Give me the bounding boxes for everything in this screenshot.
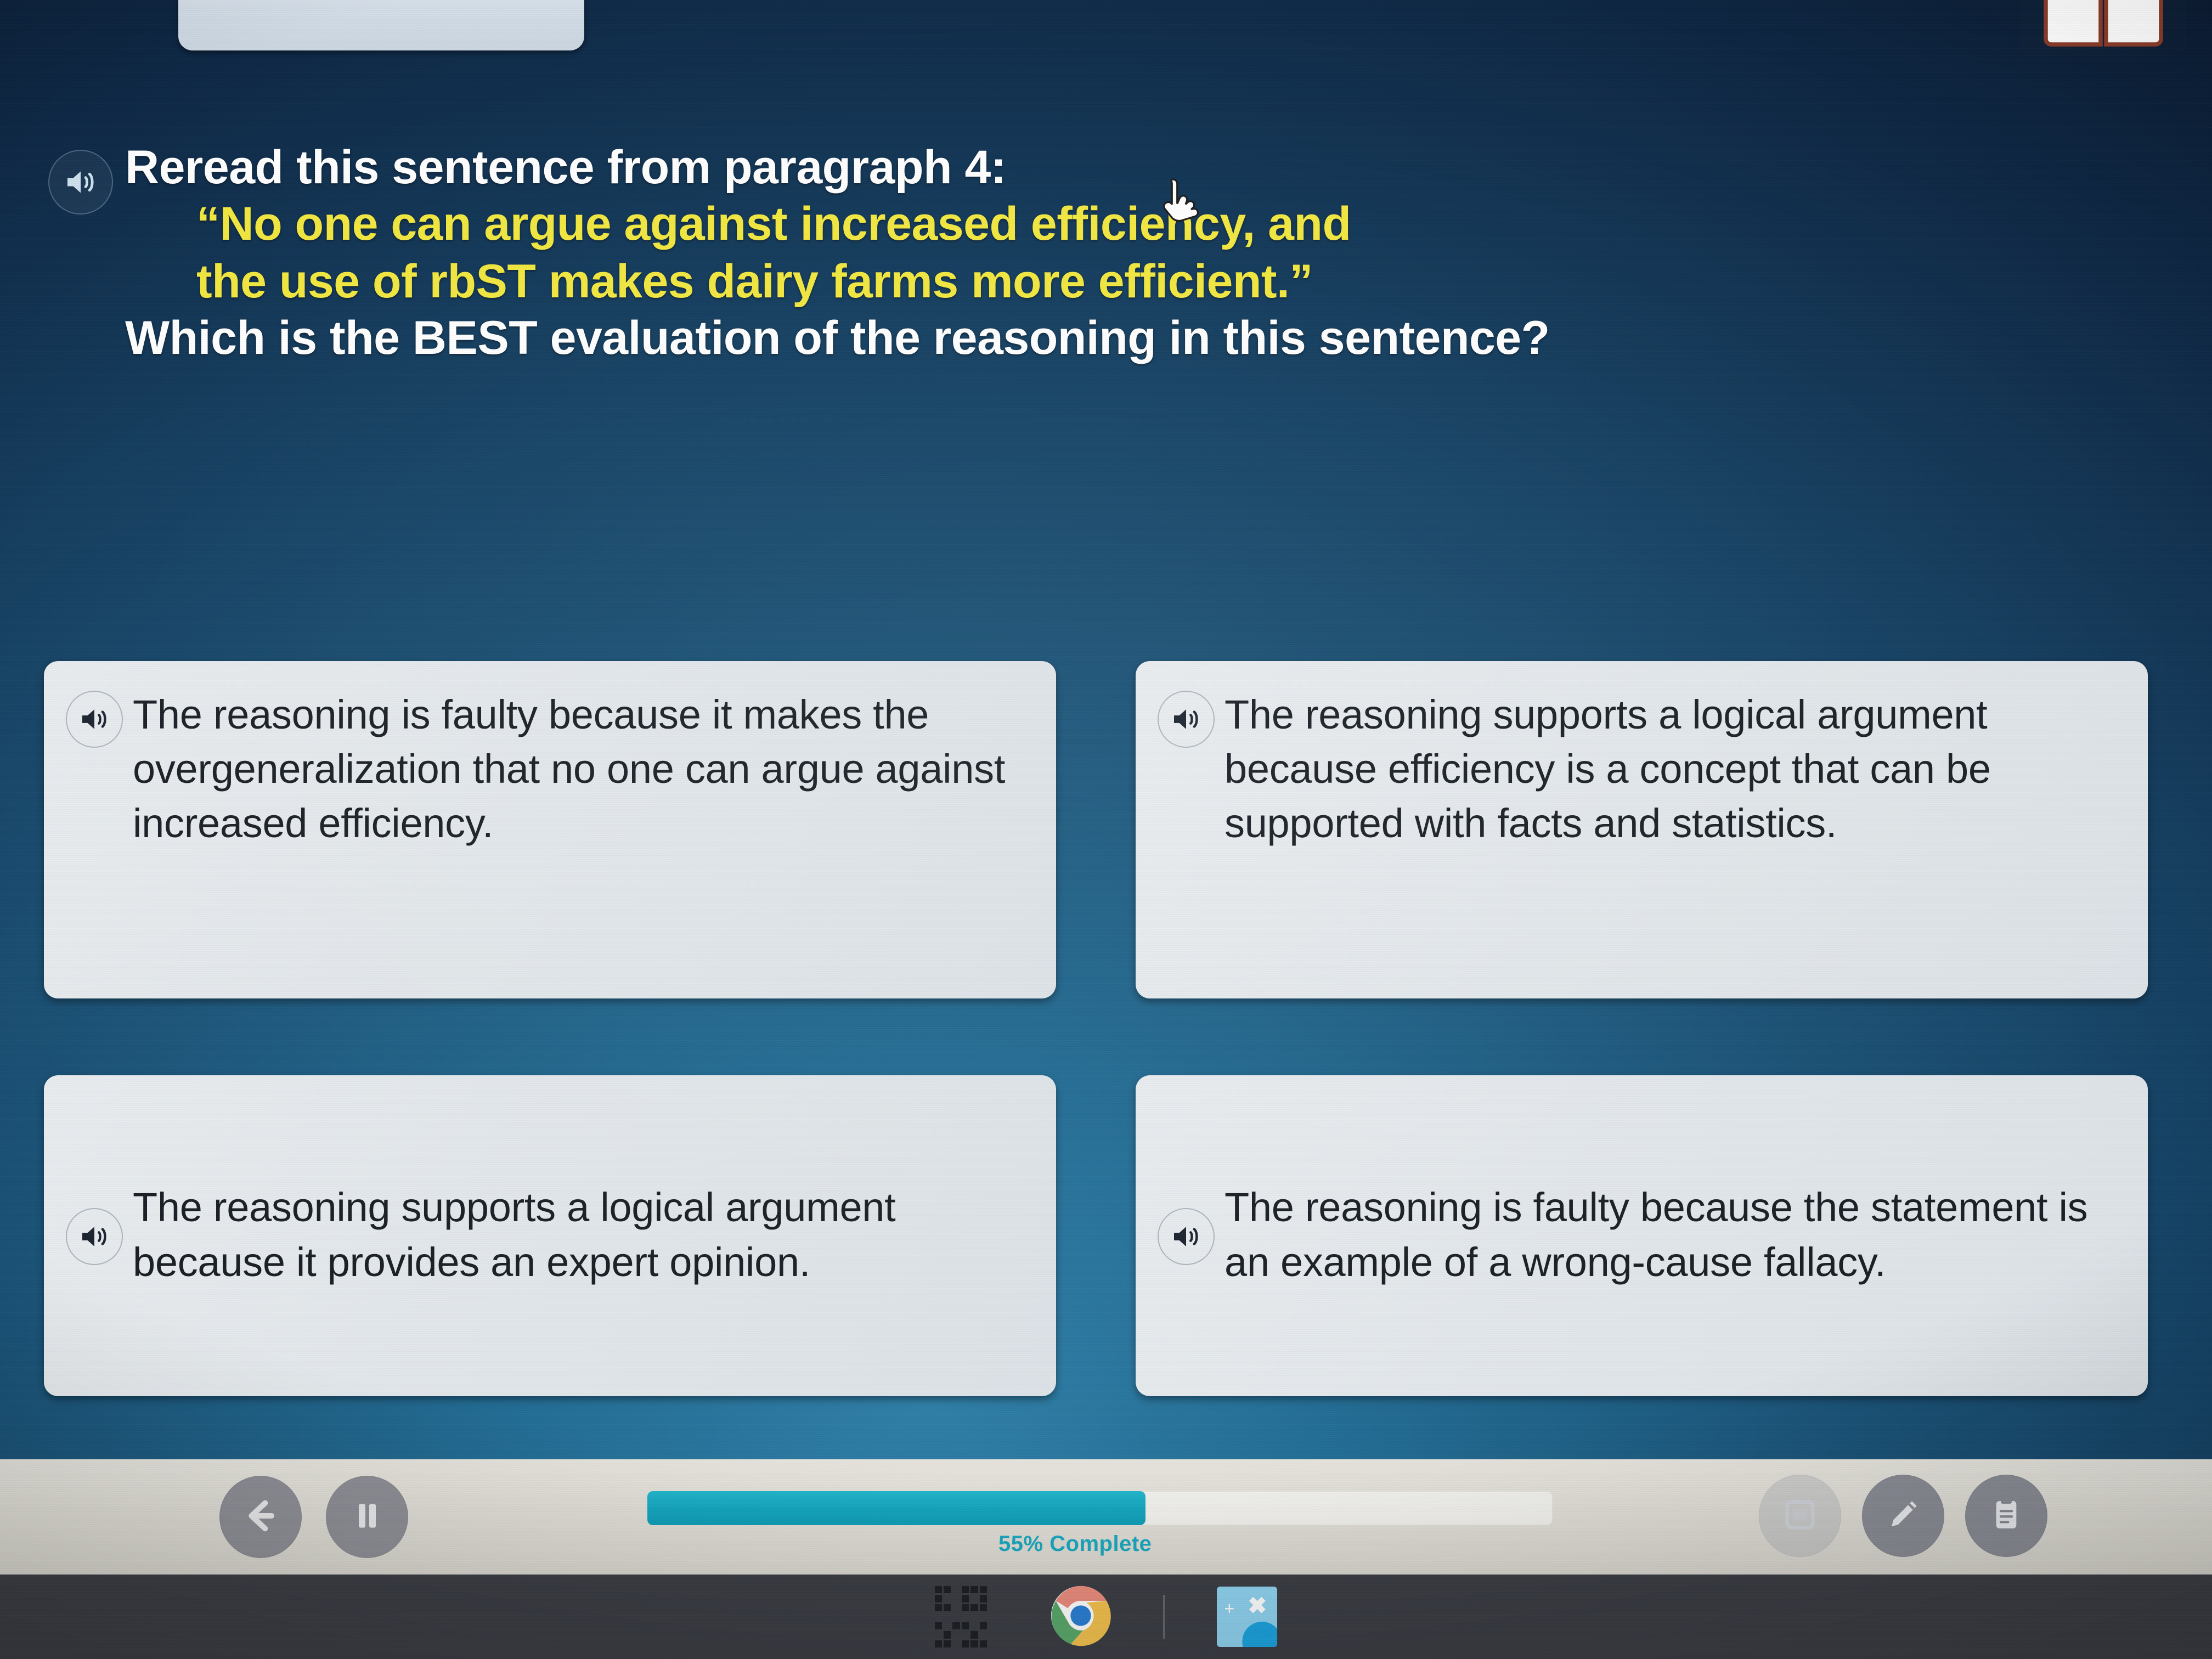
qr-code-icon xyxy=(935,1586,996,1647)
pause-icon xyxy=(345,1494,389,1541)
tab-question-5[interactable]: Question 5 xyxy=(178,0,584,50)
answer-choice-c[interactable]: The reasoning supports a logical argumen… xyxy=(44,1075,1056,1396)
pause-button[interactable] xyxy=(326,1476,408,1558)
toolbar-left-group xyxy=(219,1476,408,1558)
taskbar-divider xyxy=(1163,1595,1165,1639)
reading-passage-button[interactable] xyxy=(2021,0,2186,56)
notes-button[interactable] xyxy=(1965,1475,2047,1557)
toolbar-right-group xyxy=(1759,1475,2047,1557)
chrome-browser-icon xyxy=(1048,1583,1113,1651)
answer-choice-d-text: The reasoning is faulty because the stat… xyxy=(1224,1180,2123,1289)
question-instruction: Which is the BEST evaluation of the reas… xyxy=(125,311,1550,366)
bottom-toolbar: 55% Complete xyxy=(0,1459,2212,1575)
answer-choices-grid: The reasoning is faulty because it makes… xyxy=(44,661,2167,1396)
question-prompt: Reread this sentence from paragraph 4: xyxy=(125,140,1550,195)
answer-choice-b[interactable]: The reasoning supports a logical argumen… xyxy=(1136,661,2148,998)
answer-choice-c-text: The reasoning supports a logical argumen… xyxy=(133,1180,1031,1289)
speaker-audio-icon[interactable] xyxy=(48,150,113,215)
answer-choice-d[interactable]: The reasoning is faulty because the stat… xyxy=(1136,1075,2148,1396)
pencil-button[interactable] xyxy=(1862,1475,1944,1557)
taskbar-item-chrome[interactable] xyxy=(1048,1584,1114,1650)
highlighter-icon xyxy=(1778,1493,1822,1539)
quoted-sentence-line-1: “No one can argue against increased effi… xyxy=(196,195,1550,253)
progress-bar: 55% Complete xyxy=(647,1491,1553,1557)
open-book-icon xyxy=(2040,0,2166,53)
speaker-audio-icon[interactable] xyxy=(66,691,123,748)
quoted-sentence-line-2: the use of rbST makes dairy farms more e… xyxy=(196,253,1550,311)
answer-choice-a[interactable]: The reasoning is faulty because it makes… xyxy=(44,661,1056,998)
speaker-audio-icon[interactable] xyxy=(66,1208,123,1265)
progress-fill xyxy=(647,1491,1145,1525)
taskbar-item-snipping-tool[interactable]: + ✖ xyxy=(1214,1584,1280,1650)
tab-bar: Question 5 xyxy=(0,0,2212,53)
taskbar-item-qr-code[interactable] xyxy=(933,1584,998,1650)
answer-choice-a-text: The reasoning is faulty because it makes… xyxy=(133,687,1031,850)
answer-choice-b-text: The reasoning supports a logical argumen… xyxy=(1224,687,2123,850)
progress-label: 55% Complete xyxy=(998,1532,1152,1556)
speaker-audio-icon[interactable] xyxy=(1158,1208,1215,1265)
progress-track xyxy=(647,1491,1553,1525)
speaker-audio-icon[interactable] xyxy=(1158,691,1215,748)
back-button[interactable] xyxy=(219,1476,302,1558)
highlighter-button[interactable] xyxy=(1759,1475,1841,1557)
question-stem: Reread this sentence from paragraph 4: “… xyxy=(0,140,2212,366)
notes-clipboard-icon xyxy=(1984,1493,2028,1539)
windows-taskbar: + ✖ xyxy=(0,1575,2212,1659)
screen-photo: Question 5 Reread this sentence f xyxy=(0,0,2212,1659)
back-arrow-icon xyxy=(239,1494,283,1541)
snipping-tool-icon: + ✖ xyxy=(1217,1587,1277,1647)
pencil-icon xyxy=(1881,1493,1925,1539)
